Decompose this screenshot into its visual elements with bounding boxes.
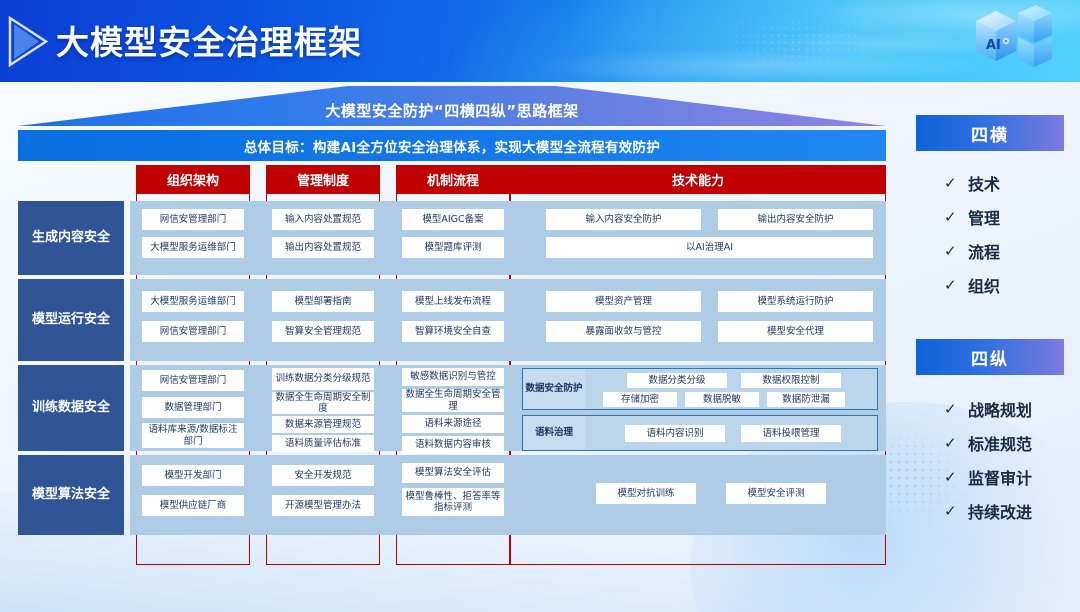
cell-r2-tech-1[interactable]: 模型资产管理	[546, 291, 701, 312]
column-header-technology[interactable]: 技术能力	[510, 165, 886, 194]
row-label-model-runtime-security[interactable]: 模型运行安全	[18, 279, 124, 361]
slide-root: 大模型安全治理框架	[0, 0, 1080, 612]
cell-r2-tech-3[interactable]: 暴露面收敛与管控	[546, 321, 701, 342]
panel-item-label: 管理	[968, 205, 1000, 229]
panel-item-organization[interactable]: ✓ 组织	[930, 268, 1080, 302]
header-dot-pattern	[670, 4, 930, 78]
check-icon: ✓	[944, 174, 958, 192]
cell-r1-tech-2[interactable]: 输出内容安全防护	[718, 209, 873, 230]
cell-r1-org-2[interactable]: 大模型服务运维部门	[142, 237, 244, 258]
row-label-model-algorithm-security[interactable]: 模型算法安全	[18, 455, 124, 535]
cell-r4-mgmt-1[interactable]: 安全开发规范	[272, 465, 374, 486]
cell-r1-tech-1[interactable]: 输入内容安全防护	[546, 209, 701, 230]
cell-r1-process-1[interactable]: 模型AIGC备案	[402, 209, 504, 230]
cell-r4-org-1[interactable]: 模型开发部门	[142, 465, 244, 486]
panel-item-label: 标准规范	[968, 431, 1032, 455]
tech-group-corpus-governance: 语料治理 语料内容识别 语料投喂管理	[522, 415, 878, 451]
cell-r3-tech-g1-1[interactable]: 数据分类分级	[627, 373, 727, 388]
cell-r3-tech-g1-2[interactable]: 数据权限控制	[741, 373, 841, 388]
matrix-column-headers: 组织架构 管理制度 机制流程 技术能力	[18, 165, 886, 194]
panel-item-label: 组织	[968, 273, 1000, 297]
panel-item-label: 流程	[968, 239, 1000, 263]
cell-r3-org-1[interactable]: 网信安管理部门	[142, 370, 244, 391]
tech-group-data-security: 数据安全防护 数据分类分级 数据权限控制 存储加密 数据脱敏 数据防泄漏	[522, 368, 878, 410]
cell-r4-org-2[interactable]: 模型供应链厂商	[142, 495, 244, 516]
cell-r2-mgmt-1[interactable]: 模型部署指南	[272, 291, 374, 312]
panel-list-four-vertical: ✓ 战略规划 ✓ 标准规范 ✓ 监督审计 ✓ 持续改进	[930, 392, 1080, 528]
check-icon: ✓	[944, 276, 958, 294]
cell-r1-mgmt-2[interactable]: 输出内容处置规范	[272, 237, 374, 258]
cell-r4-process-1[interactable]: 模型算法安全评估	[402, 463, 504, 483]
panel-item-label: 战略规划	[968, 397, 1032, 421]
panel-item-technology[interactable]: ✓ 技术	[930, 166, 1080, 200]
cell-r3-mgmt-1[interactable]: 训练数据分类分级规范	[272, 368, 374, 390]
cell-r1-mgmt-1[interactable]: 输入内容处置规范	[272, 209, 374, 230]
check-icon: ✓	[944, 400, 958, 418]
tech-group-label-corpus-governance: 语料治理	[523, 416, 585, 450]
panel-item-standards[interactable]: ✓ 标准规范	[930, 426, 1080, 460]
column-header-management[interactable]: 管理制度	[266, 165, 380, 194]
cell-r2-tech-2[interactable]: 模型系统运行防护	[718, 291, 873, 312]
cell-r3-tech-g1-3[interactable]: 存储加密	[603, 392, 677, 407]
panel-item-process[interactable]: ✓ 流程	[930, 234, 1080, 268]
cell-r4-mgmt-2[interactable]: 开源模型管理办法	[272, 495, 374, 516]
panel-list-four-horizontal: ✓ 技术 ✓ 管理 ✓ 流程 ✓ 组织	[930, 166, 1080, 302]
cell-r2-org-2[interactable]: 网信安管理部门	[142, 321, 244, 342]
svg-text:AI: AI	[986, 38, 1001, 53]
panel-item-management[interactable]: ✓ 管理	[930, 200, 1080, 234]
check-icon: ✓	[944, 502, 958, 520]
cell-r1-process-2[interactable]: 模型题库评测	[402, 237, 504, 258]
banner-title: 大模型安全防护“四横四纵”思路框架	[18, 86, 886, 126]
panel-item-label: 持续改进	[968, 499, 1032, 523]
overall-goal-bar: 总体目标：构建AI全方位安全治理体系，实现大模型全流程有效防护	[18, 130, 886, 161]
column-header-process[interactable]: 机制流程	[396, 165, 510, 194]
panel-item-supervision-audit[interactable]: ✓ 监督审计	[930, 460, 1080, 494]
cell-r2-process-1[interactable]: 模型上线发布流程	[402, 291, 504, 312]
cell-r3-mgmt-4[interactable]: 语料质量评估标准	[272, 435, 374, 452]
check-icon: ✓	[944, 208, 958, 226]
panel-title-four-vertical: 四纵	[916, 339, 1064, 375]
cell-r3-org-2[interactable]: 数据管理部门	[142, 397, 244, 418]
page-title: 大模型安全治理框架	[56, 16, 362, 64]
check-icon: ✓	[944, 434, 958, 452]
cell-r3-org-3[interactable]: 语料库来源/数据标注部门	[142, 423, 244, 448]
panel-title-four-horizontal: 四横	[916, 115, 1064, 151]
play-triangle-icon	[6, 14, 50, 69]
tech-group-label-data-security: 数据安全防护	[523, 369, 585, 409]
column-header-organization[interactable]: 组织架构	[136, 165, 250, 194]
cell-r4-tech-1[interactable]: 模型对抗训练	[596, 483, 696, 504]
cell-r2-mgmt-2[interactable]: 智算安全管理规范	[272, 321, 374, 342]
cell-r4-tech-2[interactable]: 模型安全评测	[726, 483, 826, 504]
cell-r2-org-1[interactable]: 大模型服务运维部门	[142, 291, 244, 312]
row-label-generated-content-security[interactable]: 生成内容安全	[18, 201, 124, 275]
cell-r3-process-4[interactable]: 语料数据内容审核	[402, 436, 504, 454]
cell-r2-process-2[interactable]: 智算环境安全自查	[402, 321, 504, 342]
cell-r2-tech-4[interactable]: 模型安全代理	[718, 321, 873, 342]
page-header: 大模型安全治理框架	[0, 0, 1080, 82]
ai-cube-icon: AI	[966, 3, 1058, 79]
cell-r3-mgmt-2[interactable]: 数据全生命周期安全制度	[272, 392, 374, 414]
cell-r3-tech-g1-5[interactable]: 数据防泄漏	[767, 392, 845, 407]
cell-r3-tech-g2-2[interactable]: 语料投喂管理	[741, 425, 841, 442]
framework-matrix: 组织架构 管理制度 机制流程 技术能力 生成内容安全 网信安管理部门 大模型服务…	[18, 165, 886, 565]
cell-r3-tech-g1-4[interactable]: 数据脱敏	[685, 392, 759, 407]
cell-r4-process-2[interactable]: 模型鲁棒性、拒答率等指标评测	[402, 488, 504, 516]
cell-r3-mgmt-3[interactable]: 数据来源管理规范	[272, 416, 374, 433]
cell-r1-org-1[interactable]: 网信安管理部门	[142, 209, 244, 230]
cell-r3-process-2[interactable]: 数据全生命周期安全管理	[402, 389, 504, 412]
framework-banner: 大模型安全防护“四横四纵”思路框架	[18, 86, 886, 126]
cell-r1-tech-3[interactable]: 以AI治理AI	[546, 237, 873, 258]
row-label-training-data-security[interactable]: 训练数据安全	[18, 365, 124, 451]
cell-r3-process-1[interactable]: 敏感数据识别与管控	[402, 368, 504, 386]
panel-item-continuous-improvement[interactable]: ✓ 持续改进	[930, 494, 1080, 528]
check-icon: ✓	[944, 468, 958, 486]
panel-item-label: 技术	[968, 171, 1000, 195]
panel-item-label: 监督审计	[968, 465, 1032, 489]
cell-r3-tech-g2-1[interactable]: 语料内容识别	[625, 425, 725, 442]
cell-r3-process-3[interactable]: 语料来源途径	[402, 415, 504, 433]
check-icon: ✓	[944, 242, 958, 260]
panel-item-strategic-planning[interactable]: ✓ 战略规划	[930, 392, 1080, 426]
slide-body: 大模型安全防护“四横四纵”思路框架 总体目标：构建AI全方位安全治理体系，实现大…	[0, 82, 1080, 612]
